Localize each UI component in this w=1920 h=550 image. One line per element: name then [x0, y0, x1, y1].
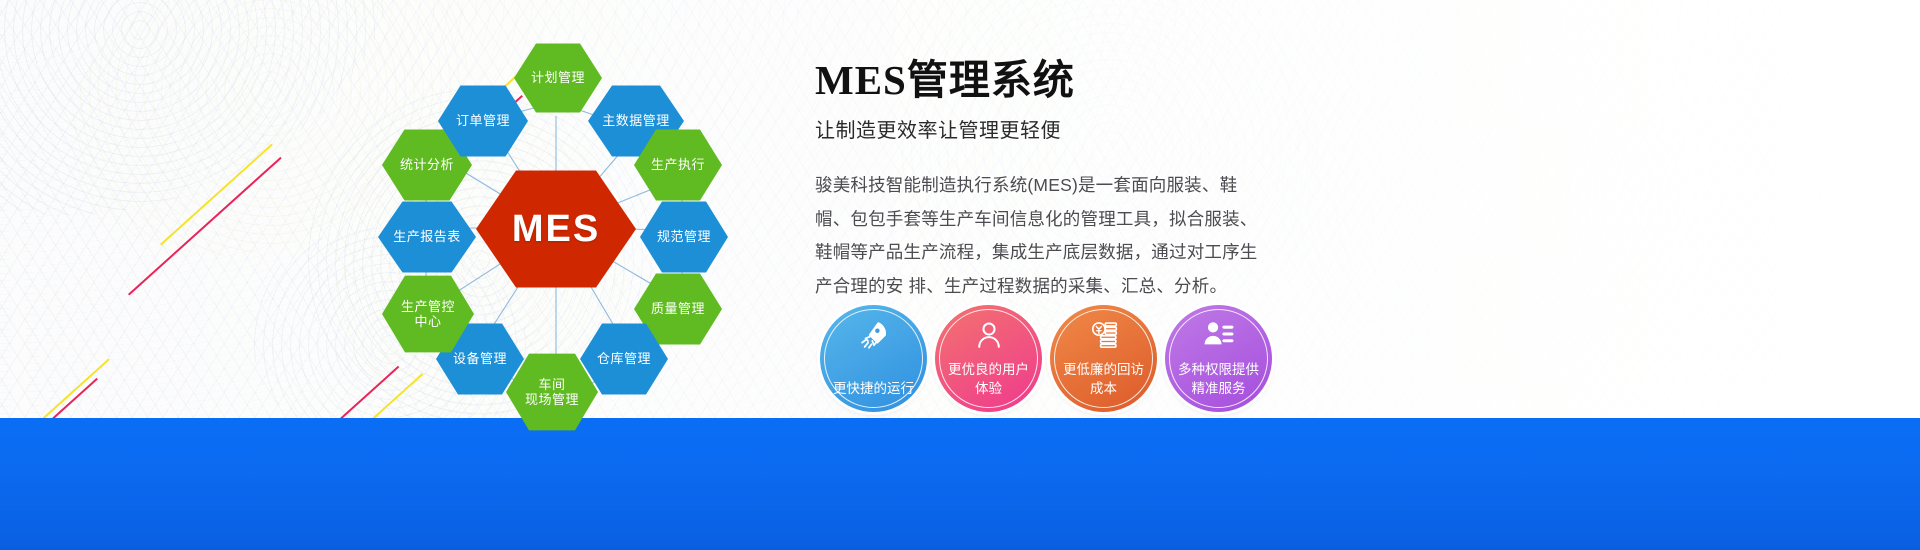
hex-node-label: 订单管理 [456, 113, 510, 128]
description-paragraph: 骏美科技智能制造执行系统(MES)是一套面向服装、鞋帽、包包手套等生产车间信息化… [815, 169, 1267, 303]
feature-badge-line2: 成本 [1090, 381, 1117, 396]
feature-badge-line1: 更优良的用户 [948, 362, 1029, 377]
mes-promo-banner: MES 计划管理 主数据管理 生产执行 规范管理 质量管理 仓库管理 车间 现场… [0, 0, 1920, 550]
mes-hexagon-diagram: MES 计划管理 主数据管理 生产执行 规范管理 质量管理 仓库管理 车间 现场… [330, 16, 790, 436]
hex-center-label: MES [512, 207, 600, 252]
hex-node-label: 车间 现场管理 [525, 377, 579, 408]
bottom-blue-band [0, 418, 1920, 550]
feature-badge-label: 更快捷的运行 [825, 380, 922, 398]
hex-node-label: 规范管理 [657, 229, 711, 244]
feature-badge-list: 更快捷的运行 更优良的用户 体验 [820, 305, 1272, 412]
hex-node-label: 生产报告表 [393, 229, 461, 244]
feature-badge-label: 更优良的用户 体验 [940, 361, 1037, 398]
coins-stack-icon [1087, 318, 1121, 352]
page-subtitle: 让制造更效率让管理更轻便 [815, 114, 1335, 143]
page-title: MES管理系统 [815, 46, 1335, 106]
hex-node-label: 计划管理 [531, 70, 585, 85]
rocket-icon [857, 318, 891, 352]
feature-badge-line2: 体验 [975, 381, 1002, 396]
feature-badge-4[interactable]: 多种权限提供 精准服务 [1165, 305, 1272, 412]
user-icon [972, 318, 1006, 352]
feature-badge-line1: 多种权限提供 [1178, 362, 1259, 377]
hex-node-label: 主数据管理 [602, 113, 670, 128]
feature-badge-label: 多种权限提供 精准服务 [1170, 361, 1267, 398]
hex-node-label: 仓库管理 [597, 351, 651, 366]
promo-text-column: MES管理系统 让制造更效率让管理更轻便 骏美科技智能制造执行系统(MES)是一… [815, 46, 1335, 303]
hex-node-label: 统计分析 [400, 157, 454, 172]
feature-badge-1[interactable]: 更快捷的运行 [820, 305, 927, 412]
feature-badge-2[interactable]: 更优良的用户 体验 [935, 305, 1042, 412]
feature-badge-line1: 更低廉的回访 [1063, 362, 1144, 377]
user-permissions-icon [1202, 318, 1236, 352]
feature-badge-3[interactable]: 更低廉的回访 成本 [1050, 305, 1157, 412]
feature-badge-line2: 精准服务 [1192, 381, 1246, 396]
hex-node-label: 质量管理 [651, 301, 705, 316]
hex-node-label: 设备管理 [453, 351, 507, 366]
hex-node-label: 生产管控 中心 [401, 299, 455, 330]
hex-node-label: 生产执行 [651, 157, 705, 172]
feature-badge-label: 更低廉的回访 成本 [1055, 361, 1152, 398]
